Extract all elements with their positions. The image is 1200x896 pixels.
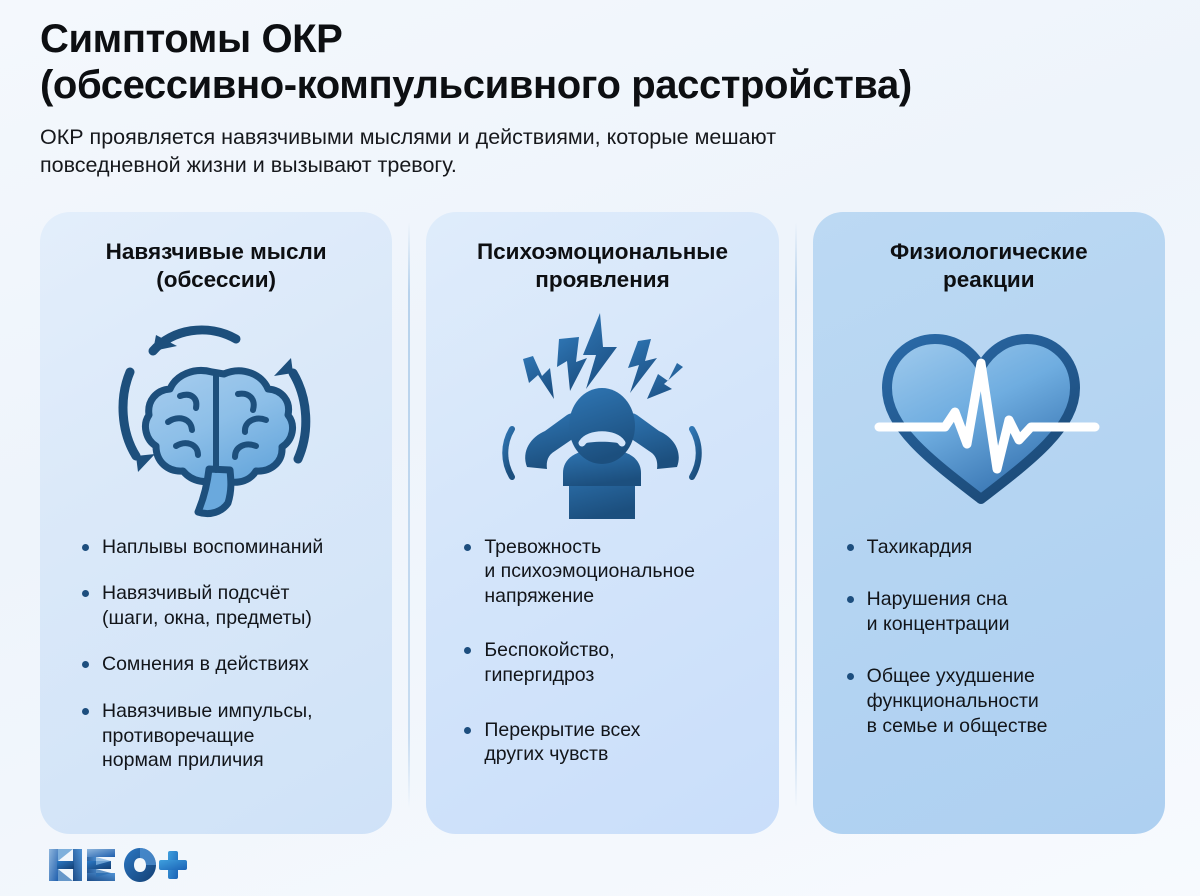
page-title: Симптомы ОКР (обсессивно-компульсивного … [40, 16, 1170, 109]
card-title-physiological: Физиологические реакции [835, 238, 1143, 295]
list-item: Навязчивые импульсы, противоречащие норм… [82, 699, 366, 773]
stressed-person-icon [448, 299, 756, 535]
card-title-obsessions: Навязчивые мысли (обсессии) [62, 238, 370, 295]
card-divider-1 [408, 222, 410, 808]
neo-plus-logo[interactable] [47, 845, 187, 885]
bullet-list-obsessions: Наплывы воспоминаний Навязчивый подсчёт … [62, 535, 370, 773]
card-obsessions: Навязчивые мысли (обсессии) [40, 212, 392, 834]
bullet-list-psychoemotional: Тревожность и психоэмоциональное напряже… [448, 535, 756, 767]
symptom-cards-row: Навязчивые мысли (обсессии) [40, 212, 1165, 834]
list-item: Перекрытие всех других чувств [464, 718, 752, 767]
bullet-list-physiological: Тахикардия Нарушения сна и концентрации … [835, 535, 1143, 738]
card-divider-2 [795, 222, 797, 808]
card-title-psychoemotional: Психоэмоциональные проявления [448, 238, 756, 295]
page-header: Симптомы ОКР (обсессивно-компульсивного … [40, 16, 1170, 180]
heart-pulse-icon [835, 299, 1143, 535]
brain-cycle-icon [62, 299, 370, 535]
page-subtitle: ОКР проявляется навязчивыми мыслями и де… [40, 123, 1070, 180]
list-item: Нарушения сна и концентрации [847, 587, 1139, 636]
list-item: Навязчивый подсчёт (шаги, окна, предметы… [82, 581, 366, 630]
list-item: Наплывы воспоминаний [82, 535, 366, 560]
list-item: Тревожность и психоэмоциональное напряже… [464, 535, 752, 609]
list-item: Общее ухудшение функциональности в семье… [847, 664, 1139, 738]
card-physiological: Физиологические реакции [813, 212, 1165, 834]
list-item: Сомнения в действиях [82, 652, 366, 677]
card-psychoemotional: Психоэмоциональные проявления [426, 212, 778, 834]
list-item: Тахикардия [847, 535, 1139, 560]
list-item: Беспокойство, гипергидроз [464, 638, 752, 687]
